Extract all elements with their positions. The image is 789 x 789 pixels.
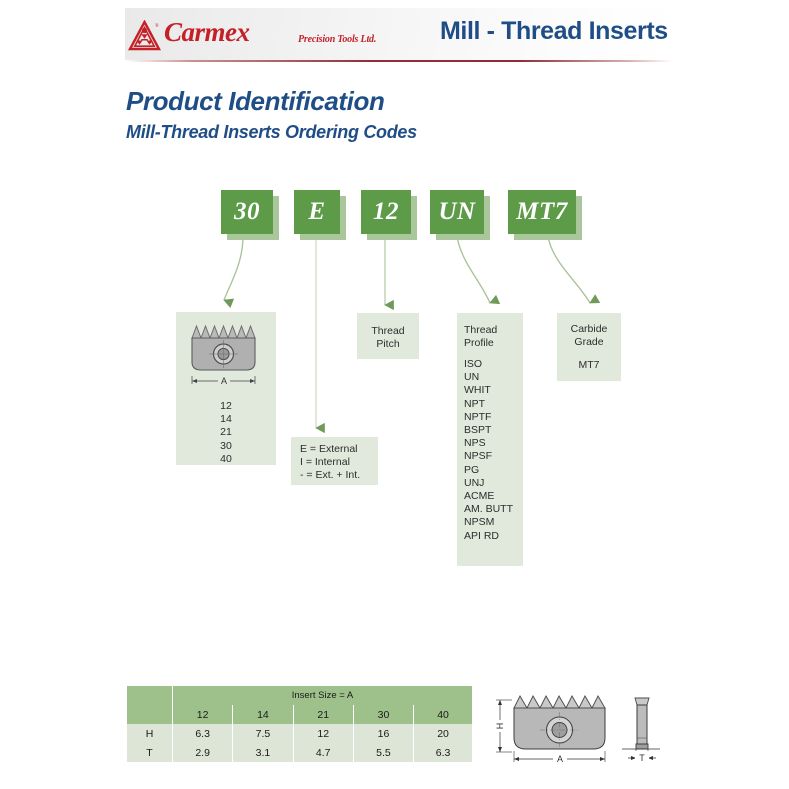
panel-title-line: Pitch — [357, 338, 419, 351]
table-cell: 6.3 — [173, 724, 233, 743]
dim-label-a: A — [221, 376, 227, 386]
panel-thread-pitch: Thread Pitch — [357, 313, 419, 359]
list-item: I = Internal — [300, 456, 378, 469]
table-cell: 2.9 — [173, 743, 233, 762]
table-cell: 16 — [353, 724, 413, 743]
side-view-drawing: T — [622, 698, 660, 763]
chip-label: 12 — [373, 198, 399, 226]
list-item: E = External — [300, 443, 378, 456]
table-row-label: T — [127, 743, 173, 762]
panel-title-line: Grade — [557, 336, 621, 349]
code-chip-direction[interactable]: E — [294, 190, 340, 234]
list-item: 30 — [176, 440, 276, 453]
table-cell: 5.5 — [353, 743, 413, 762]
list-item: NPT — [464, 398, 523, 411]
table-cell: 4.7 — [293, 743, 353, 762]
panel-direction: E = External I = Internal - = Ext. + Int… — [291, 437, 378, 485]
table-column-header: 21 — [293, 705, 353, 724]
table-row: H 6.3 7.5 12 16 20 — [127, 724, 472, 743]
panel-title-line: Thread — [464, 324, 523, 337]
list-item: WHIT — [464, 384, 523, 397]
table-column-header: 14 — [233, 705, 293, 724]
panel-carbide-grade: Carbide Grade MT7 — [557, 313, 621, 381]
list-item: 40 — [176, 453, 276, 466]
dim-label-h: H — [495, 723, 505, 730]
table-cell: 3.1 — [233, 743, 293, 762]
list-item: 12 — [176, 400, 276, 413]
carbide-grade-title: Carbide Grade — [557, 323, 621, 348]
logo-tagline: Precision Tools Ltd. — [298, 34, 376, 45]
list-item: 14 — [176, 413, 276, 426]
carmex-logo: ® Carmex Precision Tools Ltd. — [128, 18, 333, 54]
list-item: NPSM — [464, 516, 523, 529]
header-divider — [125, 60, 673, 62]
insert-technical-drawing: H A T — [482, 686, 662, 772]
table-row-span-header: Insert Size = A — [127, 686, 472, 705]
code-chip-thread-pitch[interactable]: 12 — [361, 190, 411, 234]
chip-face: UN — [430, 190, 484, 234]
code-chip-insert-size[interactable]: 30 — [221, 190, 273, 234]
chip-label: 30 — [234, 198, 260, 226]
insert-size-list: 12 14 21 30 40 — [176, 400, 276, 466]
code-chip-thread-profile[interactable]: UN — [430, 190, 484, 234]
table-cell: 6.3 — [414, 743, 472, 762]
code-chip-carbide-grade[interactable]: MT7 — [508, 190, 576, 234]
dim-label-a-front: A — [557, 754, 563, 764]
list-item: NPSF — [464, 450, 523, 463]
thread-profile-title: Thread Profile — [464, 324, 523, 349]
carbide-grade-list: MT7 — [557, 359, 621, 372]
connector-arrows — [0, 0, 789, 789]
table-cell: 7.5 — [233, 724, 293, 743]
list-item: UNJ — [464, 477, 523, 490]
list-item: AM. BUTT — [464, 503, 523, 516]
table-corner-cell — [127, 686, 173, 705]
chip-label: UN — [438, 198, 475, 226]
thread-pitch-title: Thread Pitch — [357, 325, 419, 350]
list-item: MT7 — [557, 359, 621, 372]
document-page: ® Carmex Precision Tools Ltd. Mill - Thr… — [0, 0, 789, 789]
panel-title-line: Thread — [357, 325, 419, 338]
carmex-triangle-logo-icon: ® — [128, 20, 161, 52]
list-item: ACME — [464, 490, 523, 503]
table-cell: 20 — [414, 724, 472, 743]
list-item: ISO — [464, 358, 523, 371]
dimension-table: Insert Size = A 12 14 21 30 40 H 6.3 7.5… — [127, 686, 472, 762]
dim-label-t: T — [639, 753, 645, 763]
list-item: API RD — [464, 530, 523, 543]
list-item: BSPT — [464, 424, 523, 437]
table-column-header: 30 — [353, 705, 413, 724]
direction-list: E = External I = Internal - = Ext. + Int… — [300, 443, 378, 483]
list-item: UN — [464, 371, 523, 384]
chip-face: MT7 — [508, 190, 576, 234]
front-view-drawing: H A — [494, 696, 605, 764]
insert-size-diagram-icon: A — [184, 318, 268, 390]
panel-thread-profile: Thread Profile ISO UN WHIT NPT NPTF BSPT… — [457, 313, 523, 566]
svg-text:®: ® — [155, 23, 159, 29]
thread-profile-list: ISO UN WHIT NPT NPTF BSPT NPS NPSF PG UN… — [464, 358, 523, 543]
table-column-header: 12 — [173, 705, 233, 724]
list-item: NPTF — [464, 411, 523, 424]
page-title: Product Identification — [126, 86, 384, 117]
chip-face: E — [294, 190, 340, 234]
table-row-column-headers: 12 14 21 30 40 — [127, 705, 472, 724]
table-cell: 12 — [293, 724, 353, 743]
chip-label: E — [308, 198, 325, 226]
list-item: - = Ext. + Int. — [300, 469, 378, 482]
panel-insert-size: A 12 14 21 30 40 — [176, 312, 276, 465]
list-item: 21 — [176, 426, 276, 439]
table-column-header: 40 — [414, 705, 472, 724]
list-item: PG — [464, 464, 523, 477]
table-span-header: Insert Size = A — [173, 686, 473, 705]
page-subtitle: Mill-Thread Inserts Ordering Codes — [126, 122, 417, 143]
list-item: NPS — [464, 437, 523, 450]
panel-title-line: Profile — [464, 337, 523, 350]
panel-title-line: Carbide — [557, 323, 621, 336]
chip-label: MT7 — [516, 198, 568, 226]
table-row: T 2.9 3.1 4.7 5.5 6.3 — [127, 743, 472, 762]
table-corner-cell — [127, 705, 173, 724]
logo-wordmark: Carmex — [164, 17, 250, 48]
page-header-title: Mill - Thread Inserts — [440, 17, 680, 46]
chip-face: 30 — [221, 190, 273, 234]
table-row-label: H — [127, 724, 173, 743]
chip-face: 12 — [361, 190, 411, 234]
